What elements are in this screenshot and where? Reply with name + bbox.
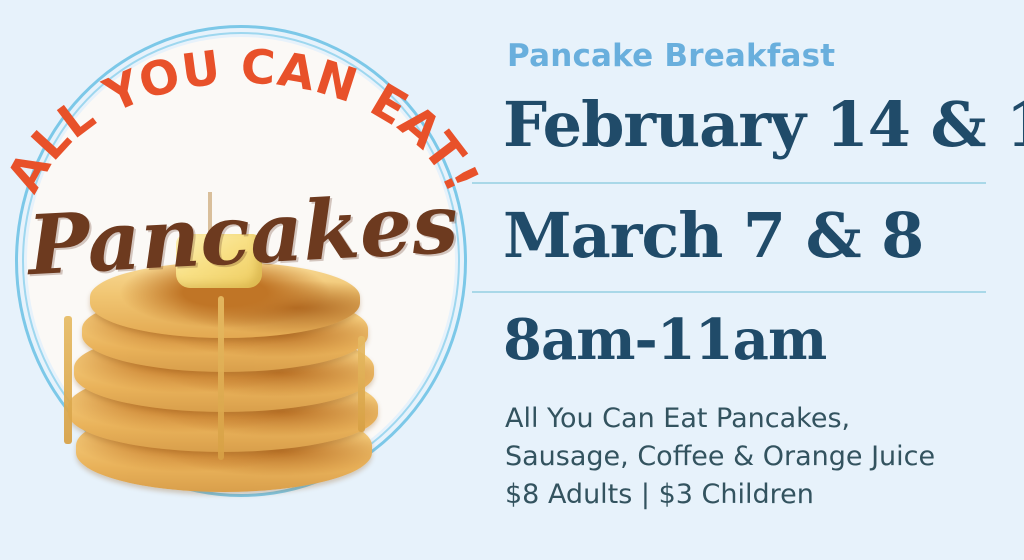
details-line-2: Sausage, Coffee & Orange Juice [505, 438, 1005, 476]
pancakes-script-word: Pancakes [6, 182, 480, 288]
divider-one [472, 182, 986, 184]
event-eyebrow-title: Pancake Breakfast [507, 38, 835, 74]
pancake-badge: ALL YOU CAN EAT! Pancakes [8, 18, 478, 508]
syrup-drip [218, 296, 224, 460]
pancake-stack-image [58, 256, 388, 518]
divider-two [472, 291, 986, 293]
syrup-drip [64, 316, 72, 444]
pancake-breakfast-flyer: ALL YOU CAN EAT! Pancakes Pancake Breakf… [0, 0, 1024, 560]
event-time: 8am-11am [503, 307, 826, 373]
details-line-3: $8 Adults | $3 Children [505, 476, 1005, 514]
event-details: All You Can Eat Pancakes, Sausage, Coffe… [505, 400, 1005, 514]
syrup-drip [358, 336, 365, 432]
details-line-1: All You Can Eat Pancakes, [505, 400, 1005, 438]
event-date-secondary: March 7 & 8 [503, 199, 923, 272]
event-info-panel: Pancake Breakfast February 14 & 15 March… [503, 0, 1003, 560]
event-date-primary: February 14 & 15 [503, 88, 1024, 161]
